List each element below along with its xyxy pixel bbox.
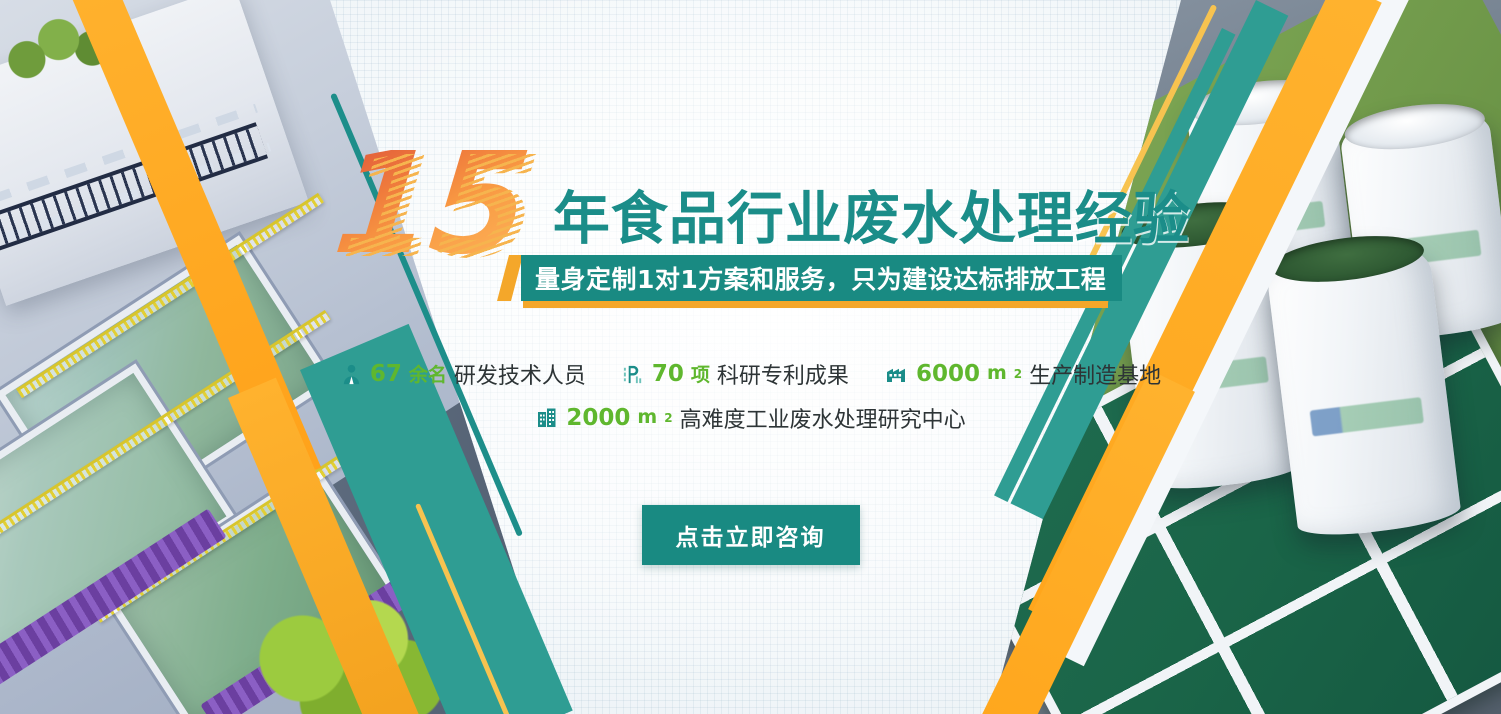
office-building-icon: [535, 406, 559, 430]
page-title: 年食品行业废水处理经验: [553, 173, 1191, 255]
stat-research-center-label: 高难度工业废水处理研究中心: [680, 402, 966, 434]
headline: 15 年食品行业废水处理经验: [336, 148, 1191, 263]
stat-patents-label: 科研专利成果: [717, 358, 849, 390]
cta-section: 点击立即咨询: [0, 505, 1501, 565]
stats-row-secondary: 2000 m 2 高难度工业废水处理研究中心: [535, 402, 965, 434]
consult-now-button[interactable]: 点击立即咨询: [642, 505, 860, 565]
stats-row-primary: 67 余名 研发技术人员: [340, 358, 1161, 390]
stat-research-center: 2000 m 2 高难度工业废水处理研究中心: [535, 402, 965, 434]
stat-manufacturing-base-unit: m: [987, 362, 1007, 384]
stat-research-center-superscript: 2: [664, 411, 672, 425]
hero-banner: 15 年食品行业废水处理经验 量身定制1对1方案和服务，只为建设达标排放工程: [0, 0, 1501, 714]
subtitle-text: 量身定制1对1方案和服务，只为建设达标排放工程: [535, 260, 1106, 296]
stat-manufacturing-base: 6000 m 2 生产制造基地: [885, 358, 1161, 390]
stat-research-center-number: 2000: [566, 405, 630, 431]
stat-patents: 70 项 科研专利成果: [622, 358, 849, 390]
stats-section: 67 余名 研发技术人员: [0, 358, 1501, 434]
user-tie-icon: [340, 363, 363, 386]
stat-rd-staff-unit: 余名: [409, 360, 447, 387]
stat-patents-unit: 项: [691, 360, 710, 387]
years-number: 15: [330, 148, 541, 263]
stat-rd-staff-label: 研发技术人员: [454, 358, 586, 390]
stat-manufacturing-base-label: 生产制造基地: [1029, 358, 1161, 390]
factory-icon: [885, 362, 909, 386]
stat-rd-staff-number: 67: [370, 361, 402, 387]
subtitle-teal-bar: 量身定制1对1方案和服务，只为建设达标排放工程: [521, 255, 1122, 301]
stat-patents-number: 70: [652, 361, 684, 387]
stat-rd-staff: 67 余名 研发技术人员: [340, 358, 586, 390]
stat-research-center-unit: m: [637, 406, 657, 428]
stat-manufacturing-base-number: 6000: [916, 361, 980, 387]
patent-icon: [622, 363, 645, 386]
stat-manufacturing-base-superscript: 2: [1014, 367, 1022, 381]
